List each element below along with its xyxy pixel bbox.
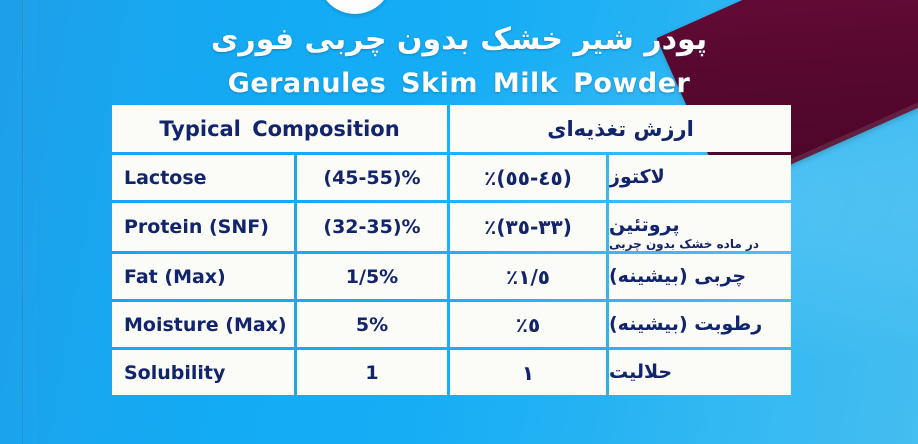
row-label-persian: پروتئین در ماده خشک بدون چربی <box>609 203 791 251</box>
table-row: Fat (Max) 1/5% ١/٥٪ چربی (بیشینه) <box>112 254 791 299</box>
table-row: Moisture (Max) 5% ٥٪ رطوبت (بیشینه) <box>112 302 791 347</box>
row-value-persian: ٥٪ <box>450 302 606 347</box>
nutrition-table: Typical Composition ارزش تغذیه‌ای Lactos… <box>112 105 791 386</box>
row-value-persian: ١ <box>450 350 606 395</box>
table-row: Lactose (45-55)% (٤٥-٥٥)٪ لاکتوز <box>112 155 791 200</box>
row-label-persian: لاکتوز <box>609 155 791 200</box>
row-label-english: Fat (Max) <box>112 254 294 299</box>
row-value-persian: ١/٥٪ <box>450 254 606 299</box>
row-label-english: Moisture (Max) <box>112 302 294 347</box>
row-label-persian: رطوبت (بیشینه) <box>609 302 791 347</box>
row-value-english: 1 <box>297 350 447 395</box>
table-header-row: Typical Composition ارزش تغذیه‌ای <box>112 105 791 152</box>
header-nutritional-value-persian: ارزش تغذیه‌ای <box>450 105 791 152</box>
product-title-english: Geranules Skim Milk Powder <box>0 68 918 99</box>
row-label-english: Protein (SNF) <box>112 203 294 251</box>
row-label-persian-main: لاکتوز <box>609 168 665 188</box>
row-value-english: (45-55)% <box>297 155 447 200</box>
row-label-persian: چربی (بیشینه) <box>609 254 791 299</box>
product-title-persian: پودر شیر خشک بدون چربی فوری <box>0 22 918 57</box>
table-row: Protein (SNF) (32-35)% (٣٣-٣٥)٪ پروتئین … <box>112 203 791 251</box>
package-crease-line <box>21 0 24 444</box>
row-label-english: Solubility <box>112 350 294 395</box>
row-value-persian: (٣٣-٣٥)٪ <box>450 203 606 251</box>
row-label-persian-main: پروتئین <box>609 216 680 236</box>
product-package-label: پودر شیر خشک بدون چربی فوری Geranules Sk… <box>0 0 918 444</box>
row-value-english: (32-35)% <box>297 203 447 251</box>
row-label-persian-main: رطوبت (بیشینه) <box>609 315 762 335</box>
row-value-english: 1/5% <box>297 254 447 299</box>
row-value-persian: (٤٥-٥٥)٪ <box>450 155 606 200</box>
row-label-persian-subtext: در ماده خشک بدون چربی <box>609 237 759 251</box>
header-typical-composition: Typical Composition <box>112 105 447 152</box>
row-label-english: Lactose <box>112 155 294 200</box>
package-crease-line-secondary <box>38 0 40 444</box>
row-label-persian: حلالیت <box>609 350 791 395</box>
row-label-persian-main: حلالیت <box>609 363 672 383</box>
row-label-persian-main: چربی (بیشینه) <box>609 267 746 287</box>
row-value-english: 5% <box>297 302 447 347</box>
table-row: Solubility 1 ١ حلالیت <box>112 350 791 395</box>
logo-blob-shape <box>318 0 392 14</box>
